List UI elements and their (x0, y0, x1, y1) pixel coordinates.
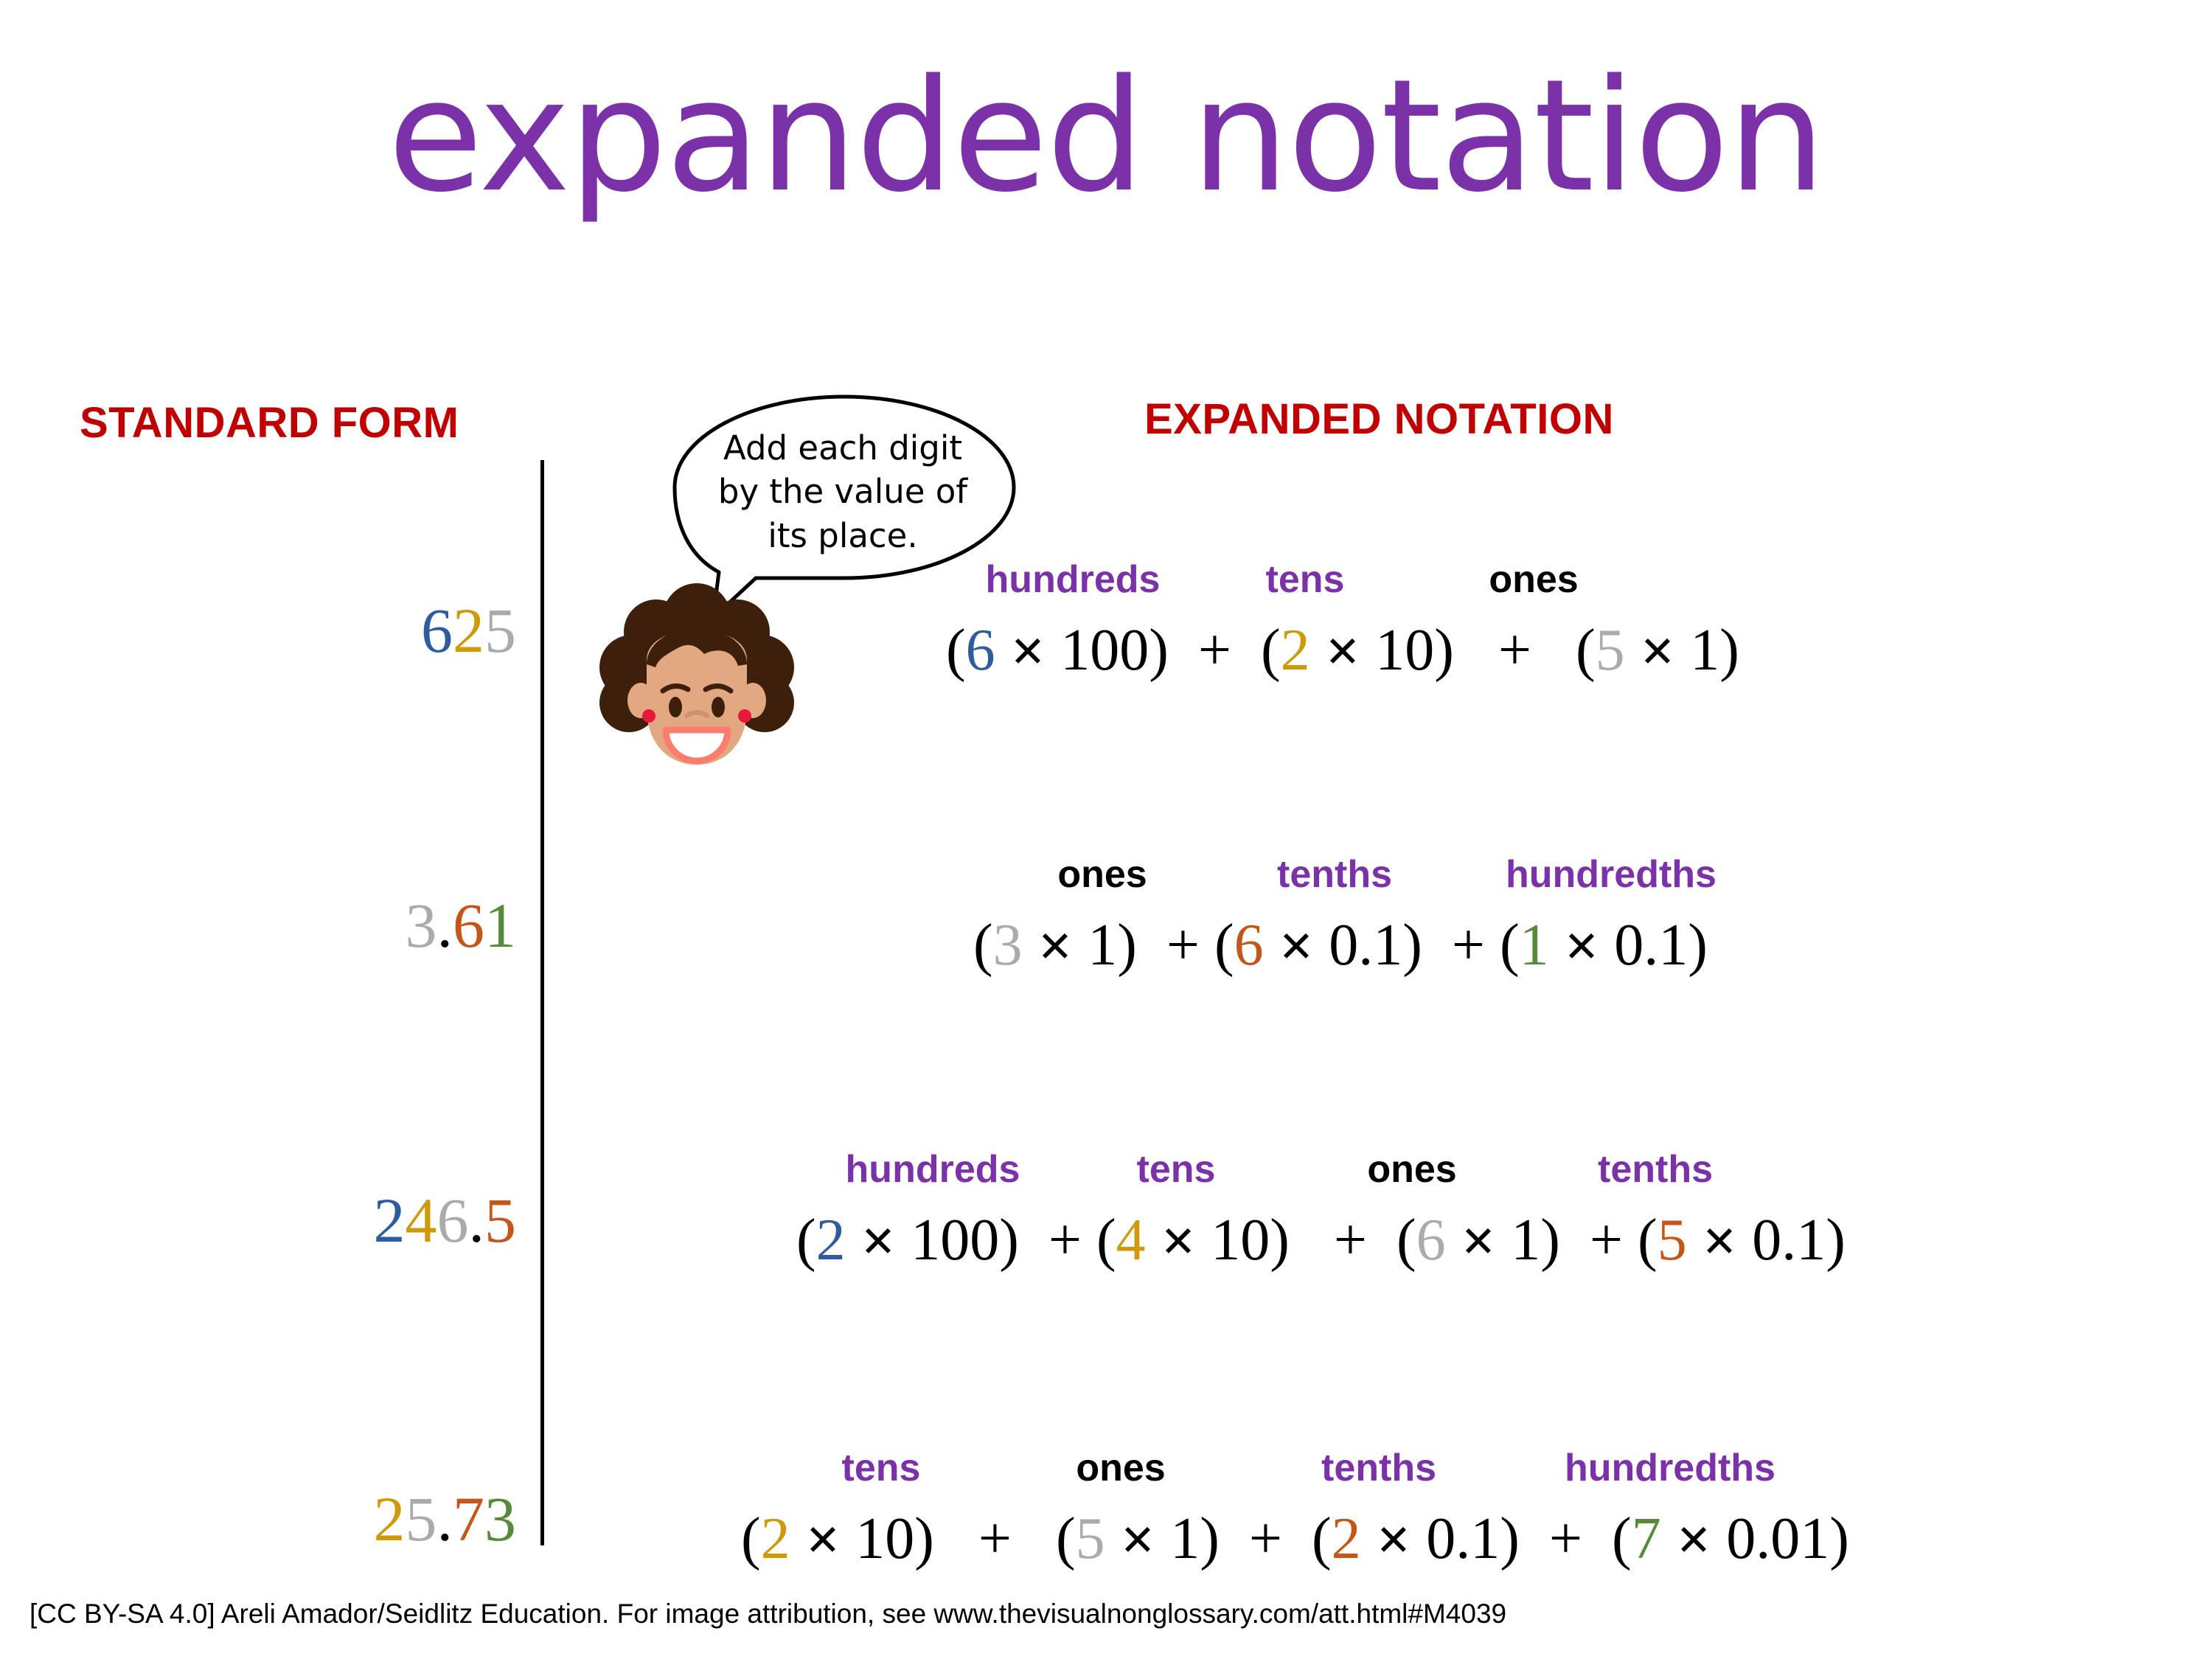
avatar-smile (666, 730, 728, 761)
term-value: 0.01 (1726, 1506, 1829, 1571)
open-paren: ( (1056, 1506, 1076, 1571)
term-value: 10 (1211, 1208, 1270, 1273)
open-paren: ( (1612, 1506, 1632, 1571)
term-digit: 6 (1234, 913, 1264, 978)
times-icon: ✕ (1676, 1515, 1712, 1565)
open-paren: ( (796, 1208, 816, 1273)
open-paren: ( (1312, 1506, 1332, 1571)
open-paren: ( (973, 913, 993, 978)
times-icon: ✕ (1120, 1515, 1156, 1565)
digit: 4 (406, 1185, 437, 1256)
plus-operator: + (1590, 1208, 1623, 1273)
speech-line-3: its place. (688, 514, 998, 557)
times-icon: ✕ (1010, 627, 1046, 677)
term-digit: 6 (966, 618, 995, 683)
digit: 7 (453, 1484, 484, 1554)
open-paren: ( (1500, 913, 1520, 978)
term-value: 1 (1690, 618, 1719, 683)
place-label: ones (1416, 560, 1652, 599)
term-digit: 5 (1596, 618, 1625, 683)
term-digit: 2 (761, 1506, 790, 1571)
standard-form-value: 3.61 (0, 894, 752, 957)
place-label: hundredths (1456, 855, 1766, 894)
expanded-notation-expression: (2 ✕ 100) + (4 ✕ 10) + (6 ✕ 1) + (5 ✕ 0.… (796, 1211, 1846, 1270)
place-value-labels: hundreds tens ones tenths (804, 1150, 1777, 1189)
digit: 1 (484, 890, 516, 961)
close-paren: ) (1826, 1208, 1846, 1273)
close-paren: ) (1719, 618, 1739, 683)
term-value: 10 (1375, 618, 1434, 683)
digit: 2 (453, 595, 484, 666)
place-label: hundredths (1508, 1449, 1832, 1487)
avatar-earring-left (642, 709, 655, 723)
place-label: tens (1194, 560, 1416, 599)
open-paren: ( (1096, 1208, 1116, 1273)
place-label: ones (992, 855, 1213, 894)
term-value: 1 (1088, 913, 1117, 978)
page-title: expanded notation (0, 59, 2212, 214)
open-paren: ( (741, 1506, 761, 1571)
term-digit: 1 (1520, 913, 1549, 978)
column-header-standard-form: STANDARD FORM (80, 398, 459, 448)
place-label: tens (771, 1449, 992, 1487)
expanded-notation-expression: (6 ✕ 100) + (2 ✕ 10) + (5 ✕ 1) (946, 621, 1739, 680)
term-digit: 3 (993, 913, 1023, 978)
speech-line-1: Add each digit (688, 426, 998, 470)
place-label: tenths (1213, 855, 1456, 894)
times-icon: ✕ (860, 1217, 897, 1267)
term-value: 0.1 (1426, 1506, 1500, 1571)
term-digit: 4 (1116, 1208, 1146, 1273)
place-label: tens (1062, 1150, 1290, 1189)
term-value: 0.1 (1329, 913, 1402, 978)
place-label: tenths (1250, 1449, 1508, 1487)
open-paren: ( (946, 618, 966, 683)
times-icon: ✕ (1279, 922, 1315, 972)
close-paren: ) (1540, 1208, 1560, 1273)
close-paren: ) (999, 1208, 1019, 1273)
close-paren: ) (1149, 618, 1169, 683)
close-paren: ) (1500, 1506, 1520, 1571)
times-icon: ✕ (1564, 922, 1600, 972)
decimal-point: . (437, 1484, 453, 1554)
digit: 6 (437, 1185, 469, 1256)
plus-operator: + (978, 1506, 1012, 1571)
open-paren: ( (1397, 1208, 1416, 1273)
column-header-expanded-notation: EXPANDED NOTATION (1144, 394, 1614, 444)
times-icon: ✕ (1325, 627, 1361, 677)
standard-form-value: 246.5 (0, 1189, 730, 1252)
avatar-earring-right (738, 709, 751, 723)
standard-form-value: 25.73 (0, 1487, 734, 1551)
term-value: 0.1 (1614, 913, 1688, 978)
term-value: 10 (855, 1506, 914, 1571)
place-label: ones (992, 1449, 1250, 1487)
close-paren: ) (1402, 913, 1422, 978)
term-value: 1 (1511, 1208, 1540, 1273)
place-label: hundreds (804, 1150, 1062, 1189)
times-icon: ✕ (1161, 1217, 1197, 1267)
speech-line-2: by the value of (688, 470, 998, 513)
plus-operator: + (1498, 618, 1531, 683)
plus-operator: + (1048, 1208, 1082, 1273)
term-value: 0.1 (1752, 1208, 1826, 1273)
decimal-point: . (437, 890, 453, 961)
times-icon: ✕ (1376, 1515, 1412, 1565)
times-icon: ✕ (1702, 1217, 1738, 1267)
term-value: 1 (1170, 1506, 1200, 1571)
plus-operator: + (1549, 1506, 1582, 1571)
digit: 2 (374, 1484, 406, 1554)
times-icon: ✕ (1461, 1217, 1497, 1267)
term-digit: 2 (1332, 1506, 1361, 1571)
close-paren: ) (1200, 1506, 1220, 1571)
times-icon: ✕ (1037, 922, 1074, 972)
place-value-labels: tens ones tenths hundredths (771, 1449, 1832, 1487)
close-paren: ) (1117, 913, 1137, 978)
attribution-footer: [CC BY-SA 4.0] Areli Amador/Seidlitz Edu… (29, 1599, 1506, 1630)
speech-bubble-text: Add each digit by the value of its place… (688, 426, 998, 557)
place-value-labels: hundreds tens ones (951, 560, 1652, 599)
open-paren: ( (1261, 618, 1281, 683)
plus-operator: + (1198, 618, 1231, 683)
plus-operator: + (1166, 913, 1200, 978)
digit: 5 (406, 1484, 437, 1554)
digit: 5 (484, 1185, 516, 1256)
digit: 2 (374, 1185, 406, 1256)
term-digit: 2 (816, 1208, 846, 1273)
decimal-point: . (469, 1185, 485, 1256)
term-value: 100 (1060, 618, 1149, 683)
digit: 6 (453, 890, 484, 961)
place-value-labels: ones tenths hundredths (992, 855, 1766, 894)
avatar-eye-left (669, 697, 682, 717)
close-paren: ) (1829, 1506, 1849, 1571)
digit: 3 (406, 890, 437, 961)
times-icon: ✕ (1640, 627, 1676, 677)
place-label: hundreds (951, 560, 1194, 599)
expanded-notation-expression: (2 ✕ 10) + (5 ✕ 1) + (2 ✕ 0.1) + (7 ✕ 0.… (741, 1509, 1849, 1568)
close-paren: ) (1434, 618, 1454, 683)
open-paren: ( (1576, 618, 1596, 683)
term-digit: 5 (1076, 1506, 1105, 1571)
close-paren: ) (914, 1506, 934, 1571)
open-paren: ( (1638, 1208, 1658, 1273)
digit: 6 (421, 595, 453, 666)
close-paren: ) (1688, 913, 1708, 978)
standard-form-value: 625 (0, 599, 745, 662)
place-label: ones (1290, 1150, 1534, 1189)
plus-operator: + (1334, 1208, 1367, 1273)
poster-canvas: expanded notation STANDARD FORM EXPANDED… (0, 0, 2212, 1659)
open-paren: ( (1214, 913, 1234, 978)
place-label: tenths (1534, 1150, 1777, 1189)
term-digit: 5 (1658, 1208, 1687, 1273)
plus-operator: + (1249, 1506, 1282, 1571)
term-value: 100 (911, 1208, 999, 1273)
expanded-notation-expression: (3 ✕ 1) + (6 ✕ 0.1) + (1 ✕ 0.1) (973, 916, 1708, 975)
digit: 5 (484, 595, 516, 666)
term-digit: 6 (1416, 1208, 1446, 1273)
plus-operator: + (1452, 913, 1485, 978)
term-digit: 7 (1632, 1506, 1661, 1571)
avatar-eye-right (712, 697, 725, 717)
times-icon: ✕ (805, 1515, 841, 1565)
term-digit: 2 (1281, 618, 1310, 683)
close-paren: ) (1270, 1208, 1290, 1273)
digit: 3 (484, 1484, 516, 1554)
